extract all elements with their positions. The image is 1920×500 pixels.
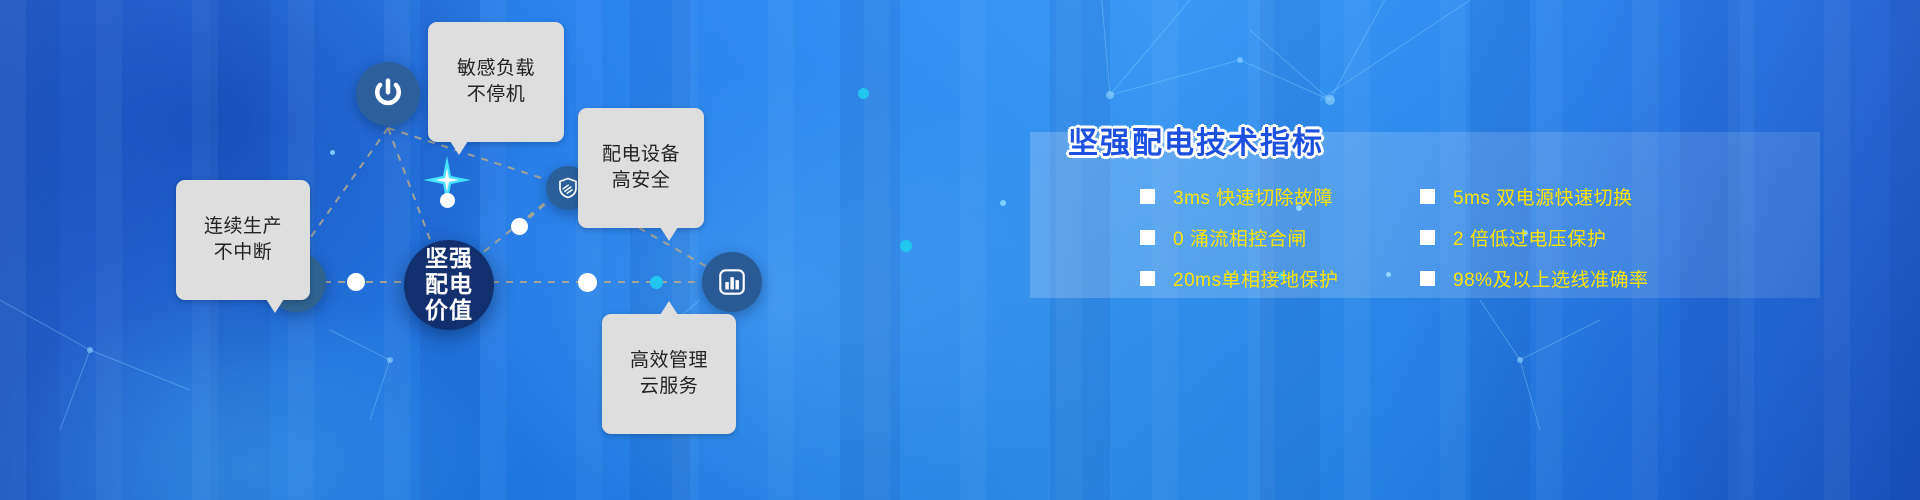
callout-tail xyxy=(450,141,468,155)
specs-list: 3ms 快速切除故障 5ms 双电源快速切换 0 涌流相控合闸 2 倍低过电压保… xyxy=(1140,176,1840,299)
callout-tail xyxy=(660,227,678,241)
center-line-3: 价值 xyxy=(425,298,473,324)
spec-row: 0 涌流相控合闸 2 倍低过电压保护 xyxy=(1140,217,1840,258)
spec-label: 20ms单相接地保护 xyxy=(1173,265,1338,292)
node-chart[interactable] xyxy=(702,252,762,312)
link-dot xyxy=(347,273,365,291)
specs-panel-title: 坚强配电技术指标 xyxy=(1068,118,1324,162)
spec-item: 98%及以上选线准确率 xyxy=(1420,258,1649,299)
spec-label: 5ms 双电源快速切换 xyxy=(1453,183,1633,210)
ambient-dot xyxy=(1000,200,1006,206)
callout-text: 配电设备 高安全 xyxy=(602,144,680,190)
spec-label: 98%及以上选线准确率 xyxy=(1453,265,1649,292)
spec-item: 0 涌流相控合闸 xyxy=(1140,217,1420,258)
link-dot xyxy=(650,276,663,289)
shield-icon xyxy=(556,176,580,200)
center-value-node[interactable]: 坚强 配电 价值 xyxy=(404,240,494,330)
bullet-square-icon xyxy=(1420,230,1435,245)
bullet-square-icon xyxy=(1140,230,1155,245)
spec-item: 2 倍低过电压保护 xyxy=(1420,217,1606,258)
bar-chart-icon xyxy=(716,266,748,298)
ambient-dot xyxy=(330,150,335,155)
center-line-1: 坚强 xyxy=(425,246,473,272)
bullet-square-icon xyxy=(1140,271,1155,286)
callout-sensitive-load: 敏感负载 不停机 xyxy=(428,22,564,142)
power-icon xyxy=(371,77,405,111)
spec-item: 5ms 双电源快速切换 xyxy=(1420,176,1633,217)
callout-tail xyxy=(660,301,678,315)
ambient-dot xyxy=(858,88,869,99)
callout-cloud-service: 高效管理 云服务 xyxy=(602,314,736,434)
center-line-2: 配电 xyxy=(425,272,473,298)
callout-text: 连续生产 不中断 xyxy=(204,216,282,262)
link-dot xyxy=(440,193,455,208)
spec-label: 2 倍低过电压保护 xyxy=(1453,224,1606,251)
spec-row: 20ms单相接地保护 98%及以上选线准确率 xyxy=(1140,258,1840,299)
link-dot xyxy=(578,273,597,292)
spec-item: 3ms 快速切除故障 xyxy=(1140,176,1420,217)
callout-text: 高效管理 云服务 xyxy=(630,350,708,396)
banner-stage: 坚强 配电 价值 敏感负载 不停机 配电设备 高安全 连续生产 不中断 高效管理… xyxy=(0,0,1920,500)
spec-label: 0 涌流相控合闸 xyxy=(1173,224,1307,251)
spec-item: 20ms单相接地保护 xyxy=(1140,258,1420,299)
link-dot xyxy=(511,218,528,235)
callout-continuous-production: 连续生产 不中断 xyxy=(176,180,310,300)
node-power[interactable] xyxy=(356,62,420,126)
callout-tail xyxy=(266,299,284,313)
callout-equipment-safety: 配电设备 高安全 xyxy=(578,108,704,228)
bullet-square-icon xyxy=(1420,271,1435,286)
ambient-dot xyxy=(900,240,912,252)
spec-label: 3ms 快速切除故障 xyxy=(1173,183,1333,210)
bullet-square-icon xyxy=(1420,189,1435,204)
spec-row: 3ms 快速切除故障 5ms 双电源快速切换 xyxy=(1140,176,1840,217)
bullet-square-icon xyxy=(1140,189,1155,204)
callout-text: 敏感负载 不停机 xyxy=(457,58,535,104)
